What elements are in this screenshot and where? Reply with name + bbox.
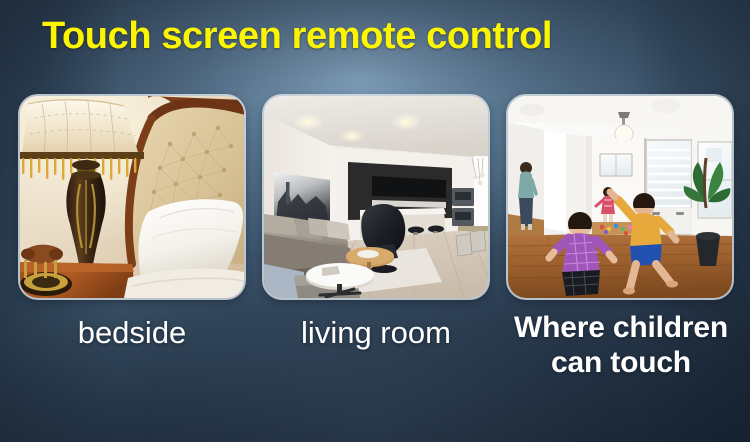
children-room-photo	[508, 96, 732, 298]
caption-children-line2: can touch	[496, 345, 746, 380]
caption-living-room: living room	[258, 315, 494, 351]
living-room-photo	[264, 96, 488, 298]
caption-children-line1: Where children	[496, 310, 746, 345]
page-title: Touch screen remote control	[42, 17, 552, 57]
image-card-bedside[interactable]	[20, 96, 244, 298]
bedside-photo	[20, 96, 244, 298]
caption-bedside: bedside	[20, 315, 244, 351]
image-card-living-room[interactable]	[264, 96, 488, 298]
slide-canvas: Touch screen remote control	[0, 0, 750, 442]
caption-children: Where children can touch	[496, 310, 746, 381]
image-card-children[interactable]	[508, 96, 732, 298]
